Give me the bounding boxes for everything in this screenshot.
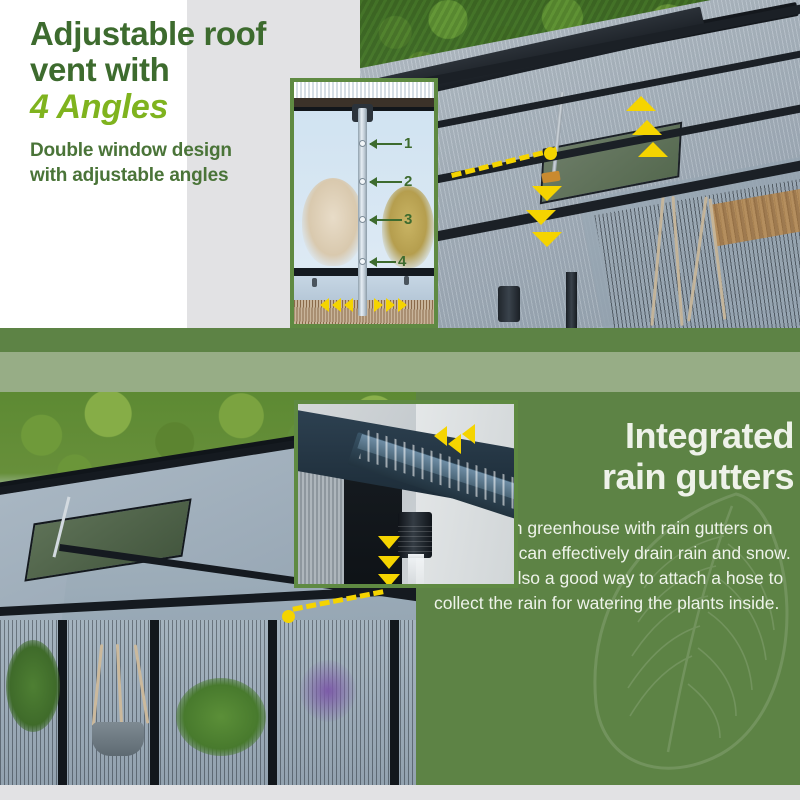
chevron-left-icon — [434, 426, 447, 446]
wall-frame-post — [390, 620, 399, 785]
callout-arrow-1 — [370, 143, 402, 145]
chevron-left-icon — [344, 298, 353, 312]
adjustment-hole-3 — [359, 216, 366, 223]
polycarbonate-panel — [298, 470, 346, 588]
panel-screw — [312, 278, 317, 287]
chevron-down-icon — [532, 186, 562, 201]
wall-frame-post — [58, 620, 67, 785]
subheading-line-1: Double window design — [30, 138, 350, 163]
callout-number-2: 2 — [404, 173, 412, 190]
connector-dot — [282, 610, 295, 623]
chevron-left-icon — [332, 298, 341, 312]
chevron-up-icon — [632, 120, 662, 135]
divider-band-light — [0, 352, 800, 392]
chevron-left-icon — [462, 424, 475, 444]
interior-plant — [176, 678, 266, 756]
subheading-line-2: with adjustable angles — [30, 163, 350, 188]
panel-screw — [404, 276, 409, 285]
water-stream — [408, 554, 424, 588]
callout-number-3: 3 — [404, 211, 412, 228]
divider-band-dark — [0, 328, 800, 352]
inset-tree-bare — [302, 178, 364, 266]
infographic-page: Adjustable roof vent with 4 Angles Doubl… — [0, 0, 800, 800]
wall-frame-post — [150, 620, 159, 785]
chevron-right-icon — [374, 298, 383, 312]
adjustment-hole-2 — [359, 178, 366, 185]
callout-arrow-3 — [370, 219, 402, 221]
chevron-up-icon — [638, 142, 668, 157]
bottom-gray-strip — [0, 785, 800, 800]
chevron-down-icon — [378, 536, 400, 549]
top-feature-section: Adjustable roof vent with 4 Angles Doubl… — [0, 0, 800, 328]
chevron-left-icon — [448, 434, 461, 454]
headline-accent: 4 Angles — [30, 87, 350, 128]
callout-number-4: 4 — [398, 253, 406, 270]
chevron-down-icon — [378, 556, 400, 569]
hanging-plant-pot — [92, 722, 144, 756]
callout-arrow-4 — [370, 261, 396, 263]
interior-flower — [300, 660, 356, 722]
adjustment-hole-1 — [359, 140, 366, 147]
bottom-feature-section: Integrated rain gutters The walk in gree… — [0, 392, 800, 785]
interior-plant — [6, 640, 60, 732]
corner-post — [566, 272, 577, 328]
chevron-down-icon — [526, 210, 556, 225]
headline-line-1: Adjustable roof — [30, 16, 350, 52]
gutter-downspout — [498, 286, 520, 322]
chevron-left-icon — [320, 298, 329, 312]
chevron-right-icon — [386, 298, 395, 312]
downspout-ribs — [398, 526, 432, 556]
chevron-up-icon — [626, 96, 656, 111]
subheading-block: Double window design with adjustable ang… — [30, 138, 350, 189]
rain-gutter-downspout-detail — [294, 400, 518, 588]
chevron-right-icon — [398, 298, 407, 312]
top-headline-block: Adjustable roof vent with 4 Angles Doubl… — [30, 16, 350, 189]
callout-number-1: 1 — [404, 135, 412, 152]
headline-line-2: vent with — [30, 52, 350, 88]
wall-frame-post — [268, 620, 277, 785]
callout-arrow-2 — [370, 181, 402, 183]
chevron-down-icon — [532, 232, 562, 247]
adjustment-hole-4 — [359, 258, 366, 265]
chevron-down-icon — [378, 574, 400, 587]
connector-dot — [544, 147, 557, 160]
